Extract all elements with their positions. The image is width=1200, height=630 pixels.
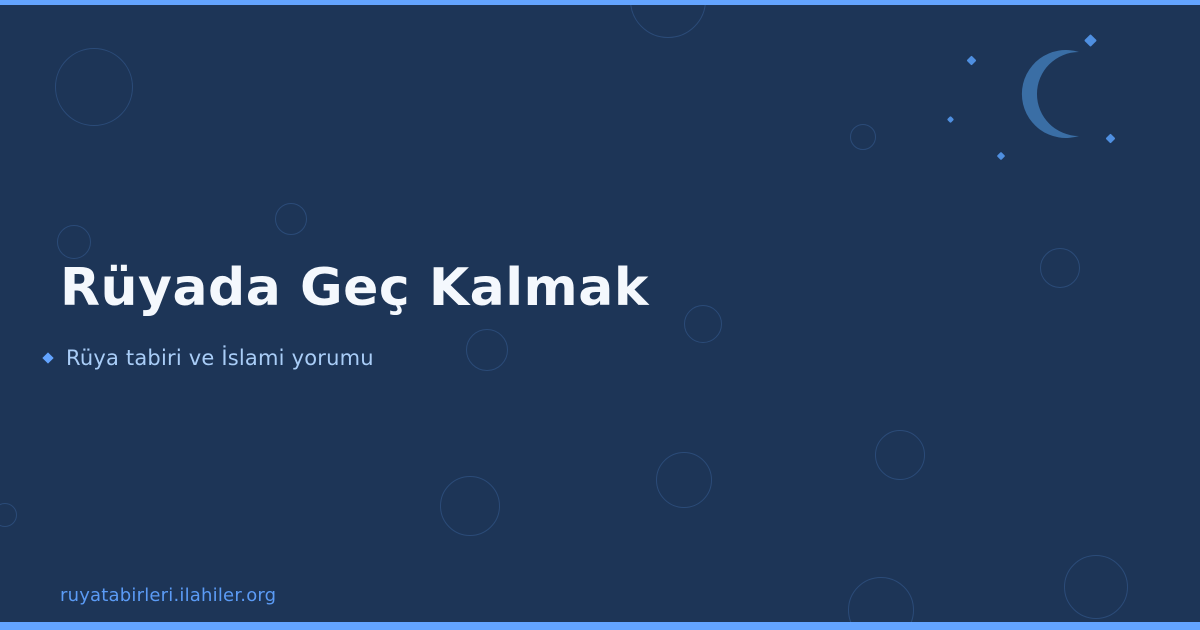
subtitle-row: Rüya tabiri ve İslami yorumu (44, 346, 820, 370)
decorative-circle (1040, 248, 1080, 288)
page-title: Rüyada Geç Kalmak (60, 260, 820, 317)
bottom-accent-bar (0, 622, 1200, 630)
star-icon (1106, 134, 1116, 144)
footer-site-url[interactable]: ruyatabirleri.ilahiler.org (60, 585, 276, 606)
star-icon (947, 116, 954, 123)
star-icon (997, 152, 1005, 160)
decorative-circle (875, 430, 925, 480)
top-accent-bar (0, 0, 1200, 5)
star-icon (1084, 34, 1097, 47)
card-content: Rüyada Geç Kalmak Rüya tabiri ve İslami … (60, 0, 820, 630)
star-icon (967, 56, 977, 66)
page-subtitle: Rüya tabiri ve İslami yorumu (66, 346, 374, 370)
social-share-card: Rüyada Geç Kalmak Rüya tabiri ve İslami … (0, 0, 1200, 630)
decorative-circle (1064, 555, 1128, 619)
decorative-circle (850, 124, 876, 150)
decorative-circle (0, 503, 17, 527)
crescent-moon-icon (1013, 50, 1101, 138)
diamond-bullet-icon (42, 352, 53, 363)
